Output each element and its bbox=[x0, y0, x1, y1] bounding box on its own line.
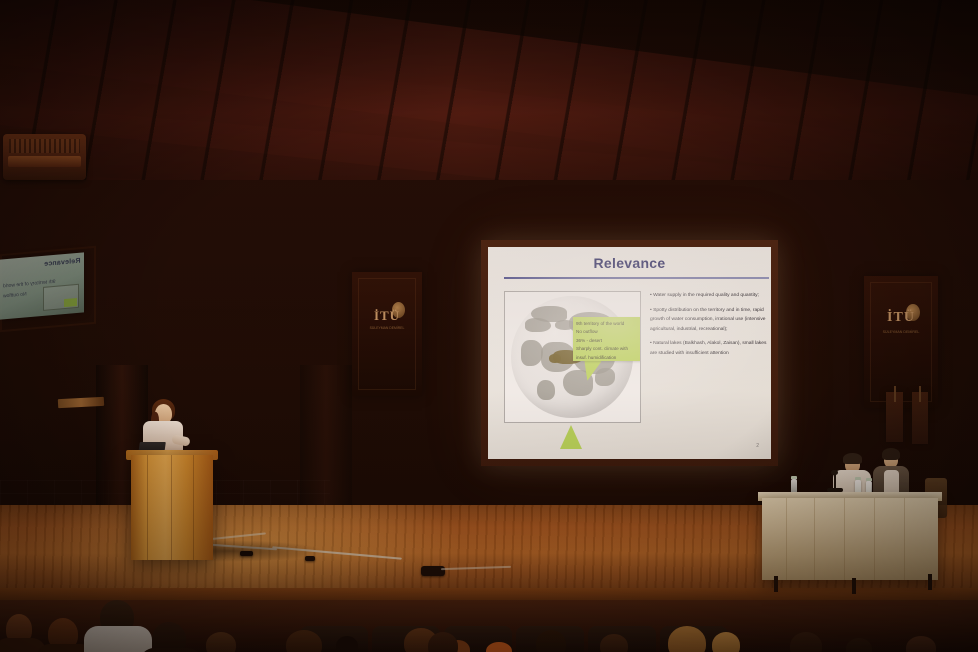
audience-head bbox=[206, 632, 236, 652]
reflection-title: Relevance bbox=[44, 258, 80, 268]
callout-line-1: 9th territory of the world bbox=[573, 317, 641, 328]
panel-table bbox=[762, 498, 938, 580]
bullet-3: • Natural lakes (Balkhash, Alakol, Zaisa… bbox=[650, 339, 768, 358]
table-leg-mid bbox=[852, 578, 856, 594]
banner-itu-left: İTÜ SÜLEYMAN DEMİREL bbox=[352, 272, 422, 396]
audience-row bbox=[0, 596, 978, 652]
air-conditioner-unit bbox=[3, 134, 86, 180]
panelist-left-hair bbox=[843, 453, 862, 464]
audience-head bbox=[846, 638, 872, 652]
callout-line-4: Sharply cont. climate with bbox=[573, 345, 641, 353]
audience-head bbox=[906, 636, 936, 652]
slide-title: Relevance bbox=[488, 255, 771, 271]
slide-bullet-list: • Water supply in the required quality a… bbox=[650, 291, 768, 363]
presentation-slide: Relevance bbox=[488, 247, 771, 459]
table-leg-right bbox=[928, 574, 932, 590]
projection-screen-frame: Relevance bbox=[481, 240, 778, 466]
slide-page-number: 2 bbox=[756, 443, 759, 449]
globe-image-box: 9th territory of the world No outflow 36… bbox=[504, 291, 641, 423]
audience-head bbox=[790, 632, 822, 652]
banner-left-logo: İTÜ bbox=[352, 308, 422, 324]
audience-head bbox=[712, 632, 740, 652]
banner-left-sub: SÜLEYMAN DEMİREL bbox=[352, 326, 422, 330]
callout-line-2: No outflow bbox=[573, 328, 641, 336]
banner-right-logo: İTÜ bbox=[864, 310, 938, 326]
audience-head bbox=[668, 626, 706, 652]
bullet-2: • Spotty distribution on the territory a… bbox=[650, 306, 768, 335]
audience-head bbox=[286, 630, 322, 652]
reflection-line-2: No outflow bbox=[3, 291, 27, 299]
microphone-head bbox=[831, 470, 838, 475]
callout-line-5: insuf. humidification bbox=[573, 354, 641, 362]
panelist-right-hair bbox=[882, 448, 900, 460]
banner-itu-right: İTÜ SÜLEYMAN DEMİREL bbox=[864, 276, 938, 408]
green-triangle-accent bbox=[560, 425, 582, 449]
bullet-1: • Water supply in the required quality a… bbox=[650, 291, 768, 301]
callout-box: 9th territory of the world No outflow 36… bbox=[573, 317, 641, 361]
callout-line-3: 36% - desert bbox=[573, 337, 641, 345]
auditorium-photo: Relevance 9th territory of the world No … bbox=[0, 0, 978, 652]
podium bbox=[131, 455, 213, 560]
slide-reflection-panel: Relevance 9th territory of the world No … bbox=[0, 252, 84, 319]
banner-right-sub: SÜLEYMAN DEMİREL bbox=[864, 330, 938, 334]
audience-head bbox=[600, 634, 628, 652]
audience-head bbox=[336, 636, 358, 652]
table-leg-left bbox=[774, 576, 778, 592]
audience-head bbox=[536, 630, 566, 652]
slide-title-rule bbox=[504, 277, 769, 279]
